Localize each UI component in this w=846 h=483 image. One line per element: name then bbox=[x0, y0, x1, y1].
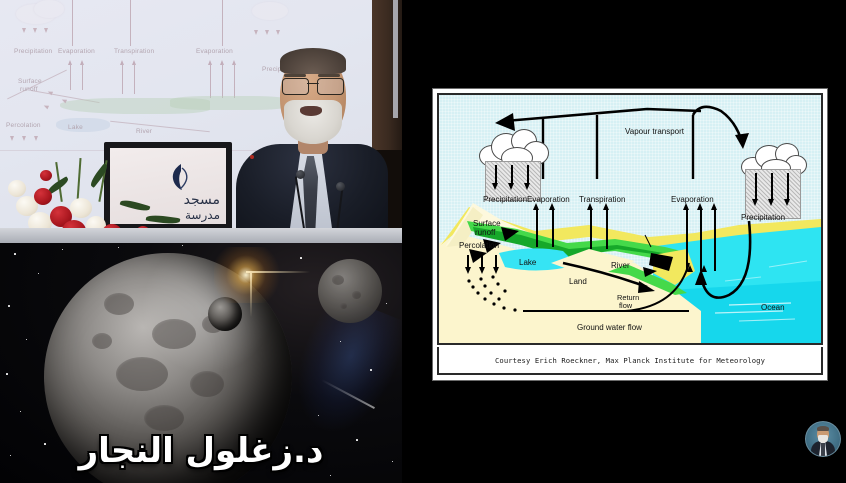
slide-label-runoff-2: runoff bbox=[20, 86, 38, 93]
perc-dot bbox=[476, 291, 479, 294]
perc-dot bbox=[513, 308, 516, 311]
flare-ray-horizontal bbox=[246, 271, 310, 273]
star bbox=[118, 247, 119, 248]
star bbox=[20, 411, 21, 412]
rain-arrow-r1 bbox=[752, 199, 758, 206]
flower-bloom-5 bbox=[70, 198, 92, 218]
microphone-indicator bbox=[250, 155, 254, 159]
perc-dot bbox=[502, 306, 505, 309]
slide-cloud-right bbox=[252, 2, 288, 20]
label-lake: Lake bbox=[519, 258, 536, 267]
avatar-hair bbox=[817, 426, 829, 431]
rain-arrow-r3 bbox=[784, 199, 790, 206]
star bbox=[6, 373, 8, 375]
slide-rain-r2 bbox=[265, 30, 269, 35]
label-evaporation-left: Evaporation bbox=[527, 195, 570, 204]
channel-avatar[interactable] bbox=[805, 421, 841, 457]
figure-caption: Courtesy Erich Roeckner, Max Planck Inst… bbox=[437, 347, 823, 375]
flower-bloom-12 bbox=[8, 180, 26, 197]
speaker bbox=[236, 44, 388, 243]
slide-perc-1 bbox=[10, 136, 14, 141]
slide-cloud-left-2 bbox=[34, 0, 64, 18]
slide-upstem-5 bbox=[210, 64, 211, 98]
flower-bloom-10 bbox=[40, 170, 52, 181]
star bbox=[370, 369, 372, 371]
star bbox=[14, 253, 16, 255]
perc-dot bbox=[471, 285, 474, 288]
slide-stem-1 bbox=[72, 0, 73, 46]
flower-leaf-3 bbox=[120, 198, 151, 213]
star bbox=[38, 273, 39, 274]
label-ground-water-flow: Ground water flow bbox=[577, 323, 642, 332]
rain-band-right bbox=[745, 169, 801, 219]
evap-stem-l2 bbox=[552, 209, 554, 247]
water-cycle-canvas: Vapour transport Precipitation Evaporati… bbox=[437, 93, 823, 345]
rain-stem-l3 bbox=[527, 165, 529, 185]
figure-caption-text: Courtesy Erich Roeckner, Max Planck Inst… bbox=[495, 356, 765, 365]
video-frame: Precipitation Evaporation Transpiration … bbox=[0, 0, 846, 483]
perc-dot bbox=[489, 291, 492, 294]
perc-arrow-2 bbox=[479, 267, 485, 274]
water-cycle-figure: Vapour transport Precipitation Evaporati… bbox=[432, 88, 828, 381]
crater bbox=[144, 405, 184, 431]
sun-flare bbox=[214, 247, 290, 303]
flare-ray-vertical bbox=[250, 273, 252, 317]
glasses-lens-left bbox=[282, 78, 309, 95]
rain-stem-l2 bbox=[511, 165, 513, 185]
speaker-hair bbox=[280, 48, 346, 74]
star bbox=[26, 339, 27, 340]
flower-stalk-2 bbox=[76, 158, 81, 202]
rain-arrow-r2 bbox=[768, 199, 774, 206]
flower-bloom-2 bbox=[34, 188, 52, 205]
perc-arrow-3 bbox=[493, 267, 499, 274]
crater bbox=[352, 291, 361, 299]
label-precipitation-right: Precipitation bbox=[741, 213, 785, 222]
transp-stem-1 bbox=[590, 209, 592, 249]
crater bbox=[116, 357, 168, 391]
transp-stem-2 bbox=[606, 209, 608, 249]
label-percolation: Percolation bbox=[459, 241, 499, 250]
slide-rain-2 bbox=[33, 28, 37, 33]
label-surface-runoff-1: Surface bbox=[473, 219, 501, 228]
flower-leaf-4 bbox=[146, 214, 181, 226]
evap-stem-r3 bbox=[714, 209, 716, 271]
space-title-card: د.زغلول النجار bbox=[0, 243, 402, 483]
perc-dot bbox=[483, 284, 486, 287]
microphone-head-1 bbox=[296, 170, 305, 179]
slide-upstem-3 bbox=[122, 64, 123, 94]
slide-perc-3 bbox=[34, 136, 38, 141]
label-return-flow-2: flow bbox=[619, 301, 632, 310]
perc-dot bbox=[496, 282, 499, 285]
slide-upstem-2 bbox=[82, 64, 83, 90]
rain-arrow-l2 bbox=[508, 183, 514, 190]
distant-planet bbox=[318, 259, 382, 323]
glasses-lens-right bbox=[317, 78, 344, 95]
rain-arrow-l1 bbox=[492, 183, 498, 190]
ocean-upwell-arrow-2 bbox=[701, 265, 707, 272]
slide-lake bbox=[56, 118, 110, 132]
crater bbox=[152, 319, 196, 349]
rain-arrow-l3 bbox=[524, 183, 530, 190]
speaker-brow-left bbox=[284, 74, 306, 77]
label-land: Land bbox=[569, 277, 587, 286]
vapour-path-left bbox=[505, 109, 701, 121]
star bbox=[330, 475, 331, 476]
perc-dot bbox=[479, 277, 482, 280]
avatar-tie bbox=[821, 443, 825, 456]
slide-label-runoff-1: Surface bbox=[18, 78, 42, 85]
label-surface-runoff-2: runoff bbox=[475, 228, 495, 237]
crater bbox=[340, 303, 347, 309]
perc-dot bbox=[492, 302, 495, 305]
slide-rain-r1 bbox=[254, 30, 258, 35]
slide-label-river: River bbox=[136, 128, 152, 135]
crater bbox=[92, 333, 112, 349]
slide-rain-3 bbox=[44, 28, 48, 33]
perc-dot bbox=[483, 297, 486, 300]
crater bbox=[332, 275, 344, 285]
label-transpiration: Transpiration bbox=[579, 195, 625, 204]
speaker-mouth bbox=[300, 106, 322, 116]
slide-rain-r3 bbox=[276, 30, 280, 35]
slide-stem-2 bbox=[130, 0, 131, 46]
perc-dot bbox=[491, 275, 494, 278]
slide-stem-3 bbox=[222, 0, 223, 46]
slide-label-percolation: Percolation bbox=[6, 122, 41, 129]
evap-stem-l1 bbox=[536, 209, 538, 247]
label-precipitation-left: Precipitation bbox=[483, 195, 527, 204]
ocean-upwell-arrow-1 bbox=[687, 265, 693, 272]
rain-stem-r2 bbox=[771, 173, 773, 201]
slide-river-line bbox=[110, 121, 210, 132]
star bbox=[182, 245, 183, 246]
crater bbox=[104, 293, 134, 315]
slide-upstem-7 bbox=[234, 64, 235, 98]
lecture-video-panel: Precipitation Evaporation Transpiration … bbox=[0, 0, 402, 243]
evap-stem-r2 bbox=[700, 209, 702, 271]
perc-dot bbox=[497, 297, 500, 300]
slide-label-transp: Transpiration bbox=[114, 48, 154, 55]
slide-runoff-arrow-3 bbox=[43, 104, 49, 110]
wall-light-edge bbox=[393, 0, 398, 118]
star bbox=[386, 303, 387, 304]
avatar-beard bbox=[818, 435, 828, 443]
label-river: River bbox=[611, 261, 630, 270]
slide-upstem-1 bbox=[70, 64, 71, 90]
slide-upstem-6 bbox=[222, 64, 223, 98]
speaker-brow-right bbox=[318, 74, 340, 77]
rain-stem-r1 bbox=[755, 173, 757, 201]
slide-label-precip-left: Precipitation bbox=[14, 48, 52, 55]
rain-stem-r3 bbox=[787, 173, 789, 201]
rain-stem-l1 bbox=[495, 165, 497, 185]
speaker-name-title: د.زغلول النجار bbox=[0, 431, 402, 471]
label-vapour-transport: Vapour transport bbox=[625, 127, 684, 136]
microphone-head-2 bbox=[336, 182, 345, 191]
star bbox=[300, 257, 302, 259]
glasses-icon bbox=[282, 78, 344, 94]
slide-upstem-4 bbox=[134, 64, 135, 94]
slide-label-evap-left: Evaporation bbox=[58, 48, 95, 55]
crater bbox=[190, 371, 224, 397]
perc-arrow-1 bbox=[465, 267, 471, 274]
slide-rain-1 bbox=[22, 28, 26, 33]
slide-label-evap-right: Evaporation bbox=[196, 48, 233, 55]
star bbox=[62, 249, 63, 250]
evap-stem-r1 bbox=[686, 209, 688, 271]
perc-dot bbox=[467, 279, 470, 282]
perc-dot bbox=[503, 289, 506, 292]
star bbox=[8, 305, 10, 307]
slide-label-lake: Lake bbox=[68, 124, 83, 131]
label-evaporation-right: Evaporation bbox=[671, 195, 714, 204]
slide-perc-2 bbox=[22, 136, 26, 141]
label-ocean: Ocean bbox=[761, 303, 785, 312]
flower-leaf-2 bbox=[88, 163, 110, 188]
lectern-surface bbox=[0, 228, 402, 243]
